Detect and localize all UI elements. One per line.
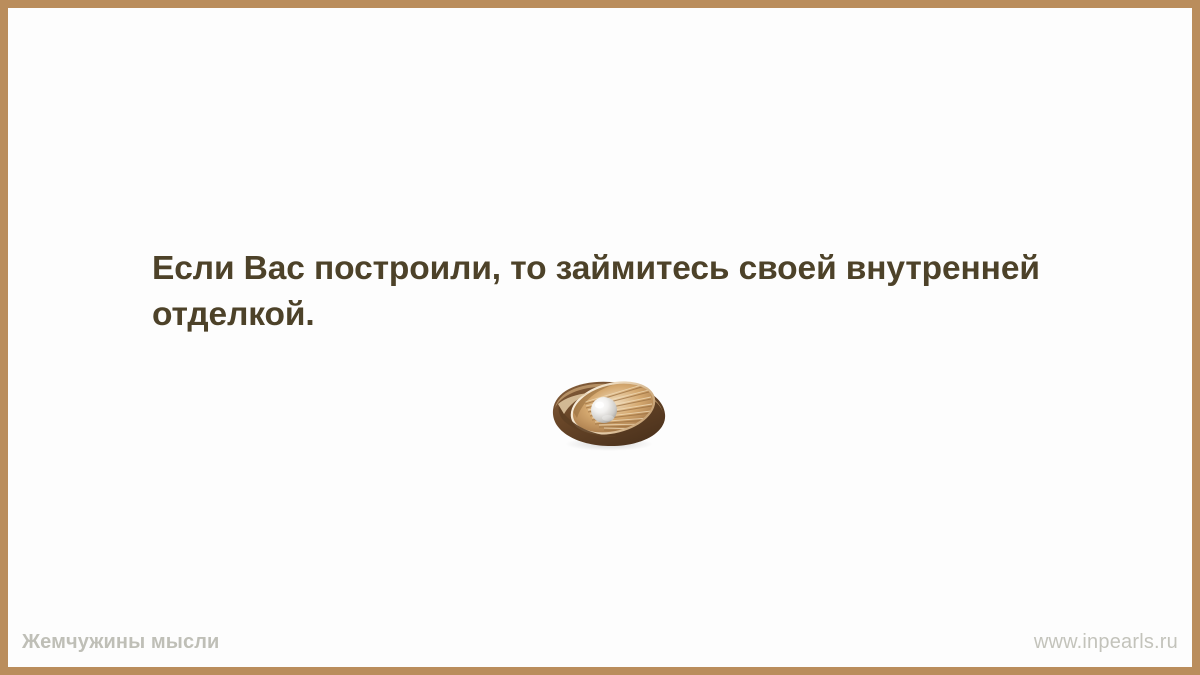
footer: Жемчужины мысли www.inpearls.ru: [8, 625, 1192, 659]
oyster-shell-icon: [545, 374, 671, 452]
quote-card: Если Вас построили, то займитесь своей в…: [0, 0, 1200, 675]
quote-text: Если Вас построили, то займитесь своей в…: [152, 246, 1072, 338]
site-url-label: www.inpearls.ru: [1034, 631, 1178, 654]
oyster-shell-with-pearl-image: [545, 374, 671, 452]
brand-label: Жемчужины мысли: [22, 631, 219, 654]
